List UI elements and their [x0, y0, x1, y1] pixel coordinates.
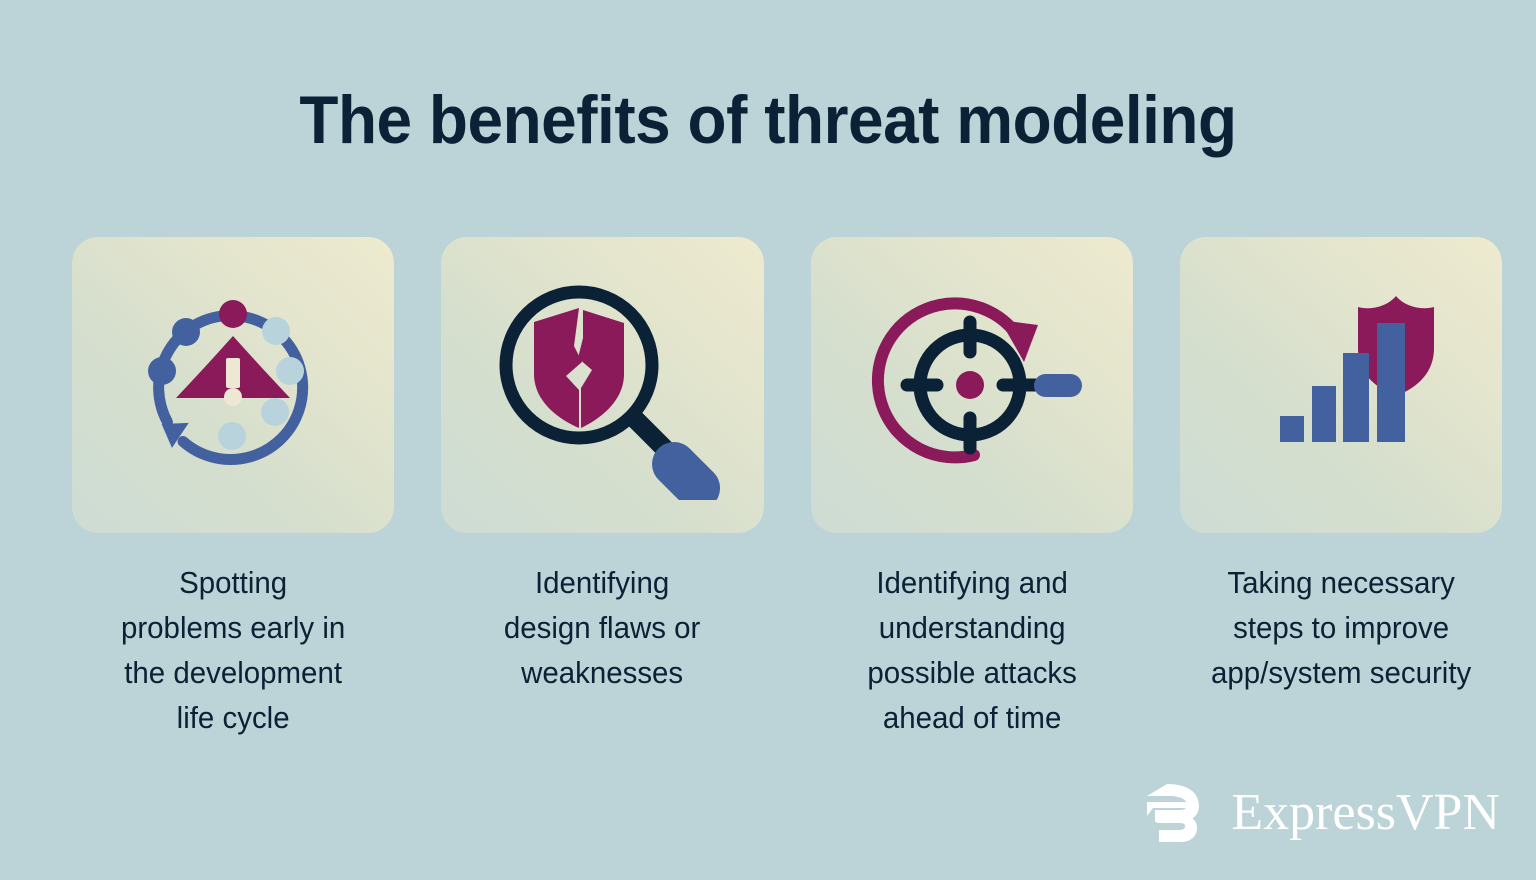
magnifier-cracked-shield-icon — [482, 270, 722, 500]
benefit-cards-row — [72, 237, 1502, 533]
benefit-card-4 — [1180, 237, 1502, 533]
benefit-card-3 — [811, 237, 1133, 533]
warning-exclamation-bar — [226, 358, 240, 388]
crosshair-center-dot — [956, 371, 984, 399]
page-title: The benefits of threat modeling — [46, 86, 1490, 154]
benefit-caption-3: Identifying and understanding possible a… — [819, 560, 1125, 740]
lifecycle-warning-icon — [118, 270, 348, 500]
expressvpn-e-mark — [1141, 782, 1215, 844]
benefit-caption-1: Spotting problems early in the developme… — [80, 560, 386, 740]
expressvpn-logo: ExpressVPN — [1141, 782, 1500, 844]
lifecycle-dot-light-1 — [262, 317, 290, 345]
lifecycle-dot-light-2 — [276, 357, 304, 385]
bar-2 — [1312, 386, 1336, 442]
bar-chart-shield-icon — [1226, 270, 1456, 500]
benefit-caption-2: Identifying design flaws or weaknesses — [449, 560, 755, 740]
target-crosshair-rotate-icon — [852, 270, 1092, 500]
expressvpn-wordmark: ExpressVPN — [1231, 787, 1500, 839]
shield-right-half — [578, 310, 624, 428]
benefit-caption-4: Taking necessary steps to improve app/sy… — [1188, 560, 1494, 740]
lifecycle-dot-light-4 — [218, 422, 246, 450]
bar-1 — [1280, 416, 1304, 442]
bar-3 — [1343, 353, 1369, 442]
benefit-captions-row: Spotting problems early in the developme… — [72, 560, 1502, 740]
lifecycle-dot-active — [219, 300, 247, 328]
infographic-page: The benefits of threat modeling — [0, 0, 1536, 880]
lifecycle-dot-light-3 — [261, 398, 289, 426]
lifecycle-dot-blue-2 — [148, 357, 176, 385]
lifecycle-dot-blue-1 — [172, 318, 200, 346]
warning-exclamation-dot — [224, 388, 242, 406]
shield-left-half — [534, 308, 582, 428]
bar-4 — [1377, 323, 1405, 442]
benefit-card-1 — [72, 237, 394, 533]
target-blue-pill — [1034, 374, 1082, 397]
benefit-card-2 — [441, 237, 763, 533]
